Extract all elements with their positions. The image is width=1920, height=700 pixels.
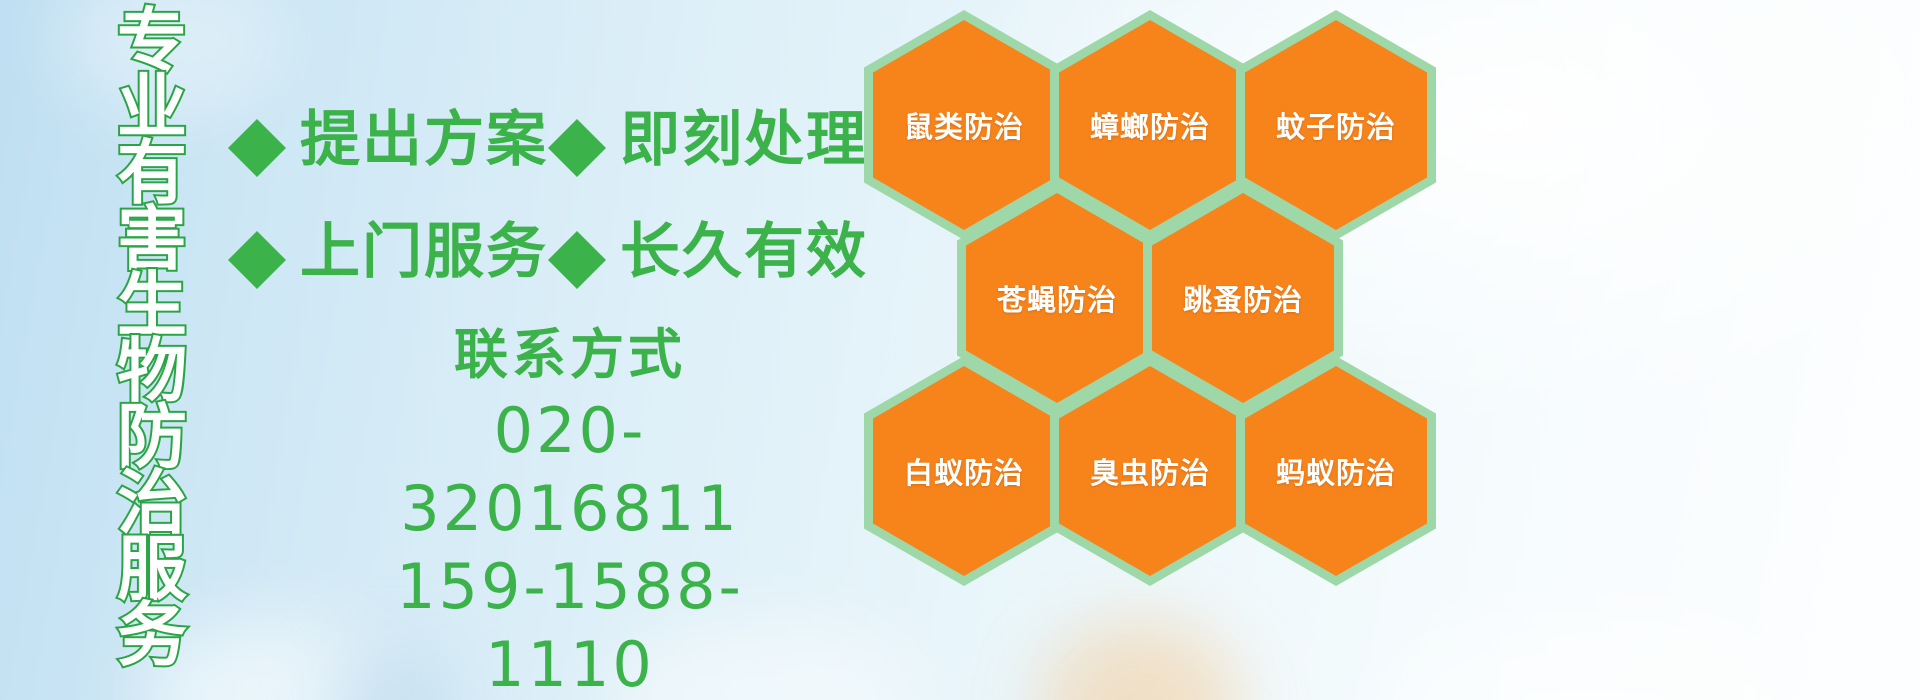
diamond-bullet-icon — [228, 202, 286, 260]
feature-label: 即刻处理 — [620, 91, 868, 178]
feature-item: 即刻处理 — [548, 91, 868, 178]
hex-cell-bedbug[interactable]: 臭虫防治 — [1050, 356, 1250, 586]
contact-phone-landline[interactable]: 020-32016811 — [330, 392, 810, 548]
hex-label: 鼠类防治 — [904, 104, 1024, 146]
hex-label: 蚊子防治 — [1276, 104, 1396, 146]
hex-label: 跳蚤防治 — [1183, 277, 1303, 319]
hex-cell-termite[interactable]: 白蚁防治 — [864, 356, 1064, 586]
contact-block: 联系方式 020-32016811 159-1588-1110 — [330, 318, 810, 700]
vertical-headline-char: 物 — [117, 338, 187, 404]
diamond-bullet-icon — [228, 90, 286, 148]
contact-label: 联系方式 — [330, 318, 810, 392]
vertical-headline-char: 服 — [117, 536, 187, 602]
feature-row: 提出方案 即刻处理 — [228, 78, 868, 190]
hex-label: 蟑螂防治 — [1090, 104, 1210, 146]
feature-label: 提出方案 — [300, 91, 548, 178]
vertical-headline-char: 生 — [117, 272, 187, 338]
hex-label: 臭虫防治 — [1090, 450, 1210, 492]
promo-banner: 专 业 有 害 生 物 防 治 服 务 提出方案 即刻处理 上门服务 — [0, 0, 1920, 700]
diamond-bullet-icon — [548, 202, 606, 260]
vertical-headline-char: 有 — [117, 140, 187, 206]
feature-row: 上门服务 长久有效 — [228, 190, 868, 302]
vertical-headline-char: 专 — [117, 8, 187, 74]
hex-cell-ant[interactable]: 蚂蚁防治 — [1236, 356, 1436, 586]
feature-label: 上门服务 — [300, 203, 548, 290]
service-honeycomb: 鼠类防治 蟑螂防治 蚊子防治 苍蝇防治 跳蚤防治 白蚁防治 — [860, 0, 1920, 700]
feature-label: 长久有效 — [620, 203, 868, 290]
vertical-headline-char: 治 — [117, 470, 187, 536]
feature-item: 提出方案 — [228, 91, 548, 178]
hex-label: 蚂蚁防治 — [1276, 450, 1396, 492]
feature-list: 提出方案 即刻处理 上门服务 长久有效 — [228, 78, 868, 302]
vertical-headline: 专 业 有 害 生 物 防 治 服 务 — [104, 8, 200, 568]
feature-item: 上门服务 — [228, 203, 548, 290]
hex-label: 苍蝇防治 — [997, 277, 1117, 319]
diamond-bullet-icon — [548, 90, 606, 148]
vertical-headline-char: 业 — [117, 74, 187, 140]
hex-label: 白蚁防治 — [904, 450, 1024, 492]
contact-phone-mobile[interactable]: 159-1588-1110 — [330, 548, 810, 700]
vertical-headline-char: 防 — [117, 404, 187, 470]
vertical-headline-char: 害 — [117, 206, 187, 272]
feature-item: 长久有效 — [548, 203, 868, 290]
vertical-headline-char: 务 — [117, 602, 187, 668]
